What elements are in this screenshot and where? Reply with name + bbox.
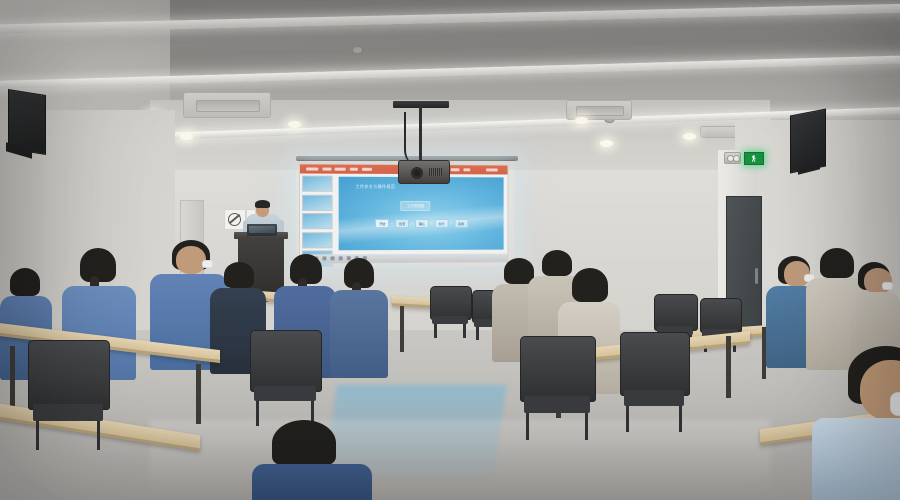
foreground-attendee xyxy=(262,420,352,500)
ceiling-projector xyxy=(398,160,450,184)
presenter-laptop[interactable] xyxy=(247,224,277,236)
ac-vent xyxy=(700,126,738,138)
ac-cassette-unit xyxy=(566,100,632,120)
slide-thumbnail[interactable] xyxy=(302,194,333,210)
downlight-icon xyxy=(683,133,696,140)
flow-arrow-icon: ▸ xyxy=(431,222,433,225)
flow-node: 确认 xyxy=(415,219,429,228)
slide-thumbnail-panel[interactable] xyxy=(302,176,333,253)
running-person-icon xyxy=(752,155,757,162)
chair[interactable] xyxy=(620,332,688,432)
emergency-exit-sign xyxy=(744,152,764,165)
no-smoking-icon xyxy=(228,213,241,226)
projector-vent xyxy=(429,168,442,176)
smoke-detector-icon xyxy=(352,46,363,54)
table-leg xyxy=(196,364,201,424)
flow-arrow-icon: ▸ xyxy=(450,222,452,225)
flow-node: 执行 xyxy=(435,219,449,228)
chair[interactable] xyxy=(28,340,108,450)
empty-chair[interactable] xyxy=(430,286,470,338)
active-slide: 工作安全与操作规范 工作流程图 开始 ▸ 检查 ▸ 确认 ▸ 执行 ▸ 完成 xyxy=(339,177,504,251)
chair[interactable] xyxy=(520,336,594,440)
attendee xyxy=(330,258,388,376)
slide-flow-diagram: 开始 ▸ 检查 ▸ 确认 ▸ 执行 ▸ 完成 xyxy=(345,219,497,228)
door-handle[interactable] xyxy=(755,268,758,284)
slide-title: 工作安全与操作规范 xyxy=(355,183,395,189)
flow-arrow-icon: ▸ xyxy=(391,222,393,226)
flow-node: 完成 xyxy=(454,219,468,228)
downlight-icon xyxy=(600,140,613,147)
slide-thumbnail[interactable] xyxy=(302,176,333,192)
table-leg xyxy=(10,346,15,406)
conference-room-photo: 工作安全与操作规范 工作流程图 开始 ▸ 检查 ▸ 确认 ▸ 执行 ▸ 完成 xyxy=(0,0,900,500)
slide-thumbnail[interactable] xyxy=(302,213,333,229)
downlight-icon xyxy=(288,121,301,128)
presenter-hair xyxy=(255,200,270,208)
ac-vane xyxy=(576,106,624,116)
table-leg xyxy=(400,306,404,352)
powerpoint-workspace: 工作安全与操作规范 工作流程图 开始 ▸ 检查 ▸ 确认 ▸ 执行 ▸ 完成 xyxy=(300,174,508,255)
floor-sheen xyxy=(150,420,770,500)
slide-thumbnail[interactable] xyxy=(302,232,333,248)
foreground-attendee xyxy=(836,346,900,500)
flow-node: 开始 xyxy=(375,219,389,228)
chair[interactable] xyxy=(250,330,320,426)
flow-node: 检查 xyxy=(395,219,409,228)
downlight-icon xyxy=(575,117,588,124)
ac-vane xyxy=(196,100,260,113)
twin-head-emergency-light xyxy=(724,152,741,164)
ac-cassette-unit xyxy=(183,92,271,118)
flow-arrow-icon: ▸ xyxy=(411,222,413,225)
projector-lens-icon xyxy=(411,167,423,179)
table-leg xyxy=(726,336,731,398)
slide-subtitle: 工作流程图 xyxy=(401,201,430,211)
downlight-icon xyxy=(180,133,193,140)
